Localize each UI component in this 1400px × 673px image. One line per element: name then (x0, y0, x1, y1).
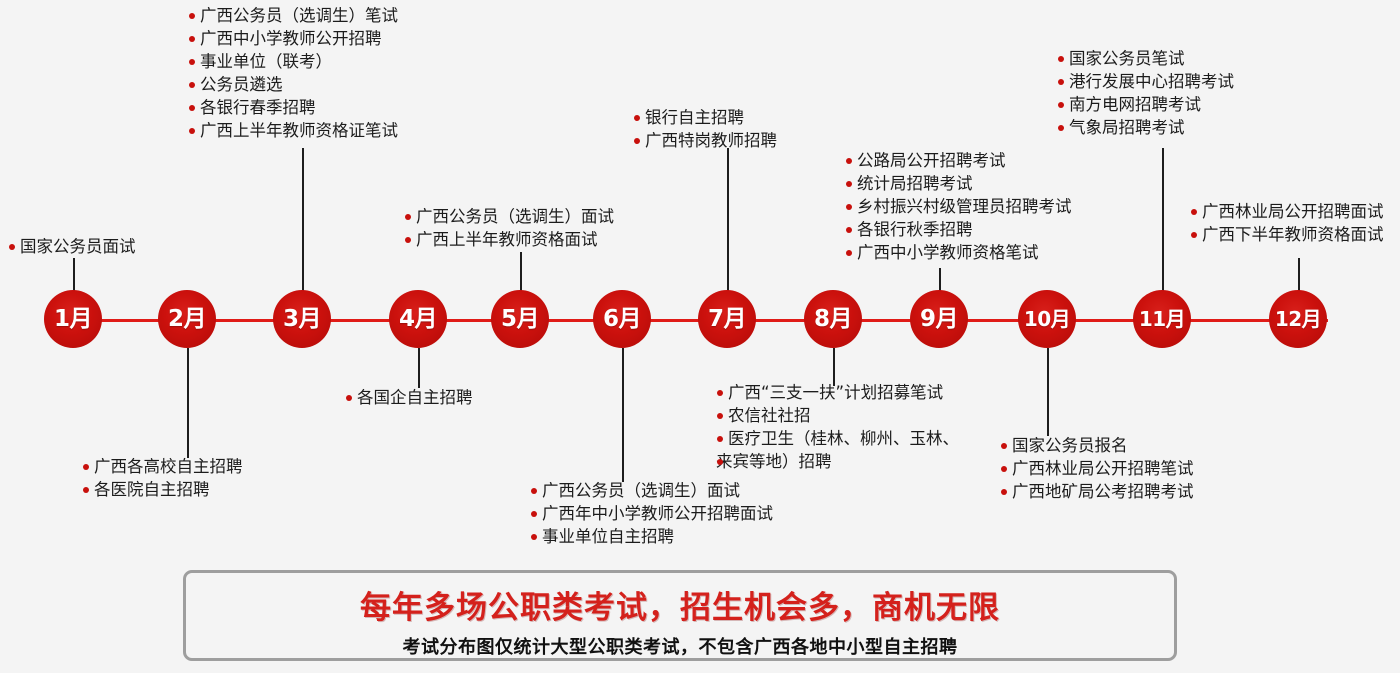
callout-item: 事业单位自主招聘 (530, 525, 773, 548)
callout-item: 南方电网招聘考试 (1057, 93, 1234, 116)
summary-banner: 每年多场公职类考试，招生机会多，商机无限 考试分布图仅统计大型公职类考试，不包含… (183, 570, 1177, 661)
month-node-7[interactable]: 7月 (698, 290, 756, 348)
callout-item: 广西林业局公开招聘面试 (1190, 200, 1384, 223)
callout-march: 广西公务员（选调生）笔试 广西中小学教师公开招聘 事业单位（联考） 公务员遴选 … (188, 4, 398, 142)
callout-item: 气象局招聘考试 (1057, 116, 1234, 139)
callout-item: 广西上半年教师资格面试 (404, 228, 614, 251)
callout-may: 广西公务员（选调生）面试 广西上半年教师资格面试 (404, 205, 614, 251)
callout-item: 各国企自主招聘 (345, 386, 473, 409)
callout-item: 广西各高校自主招聘 (82, 455, 243, 478)
callout-item: 广西公务员（选调生）面试 (404, 205, 614, 228)
callout-item: 农信社社招 (716, 404, 959, 427)
month-node-11[interactable]: 11月 (1133, 290, 1191, 348)
callout-item: 医疗卫生（桂林、柳州、玉林、 (716, 427, 959, 450)
stem-september (939, 268, 941, 292)
callout-september: 公路局公开招聘考试 统计局招聘考试 乡村振兴村级管理员招聘考试 各银行秋季招聘 … (845, 149, 1072, 264)
callout-june: 广西公务员（选调生）面试 广西年中小学教师公开招聘面试 事业单位自主招聘 (530, 479, 773, 548)
callout-item: 港行发展中心招聘考试 (1057, 70, 1234, 93)
callout-item: 各银行春季招聘 (188, 96, 398, 119)
stem-april (418, 348, 420, 388)
callout-item: 统计局招聘考试 (845, 172, 1072, 195)
callout-october: 国家公务员报名 广西林业局公开招聘笔试 广西地矿局公考招聘考试 (1000, 434, 1194, 503)
stem-november (1162, 148, 1164, 292)
month-node-9[interactable]: 9月 (910, 290, 968, 348)
stem-may (520, 252, 522, 292)
callout-item: 广西特岗教师招聘 (633, 129, 777, 152)
callout-item: 广西“三支一扶”计划招募笔试 (716, 381, 959, 404)
callout-item: 公路局公开招聘考试 (845, 149, 1072, 172)
callout-item: 公务员遴选 (188, 73, 398, 96)
callout-item: 银行自主招聘 (633, 106, 777, 129)
callout-item: 广西上半年教师资格证笔试 (188, 119, 398, 142)
stem-july (727, 148, 729, 292)
callout-april: 各国企自主招聘 (345, 386, 473, 409)
banner-subtitle: 考试分布图仅统计大型公职类考试，不包含广西各地中小型自主招聘 (186, 633, 1174, 659)
callout-item: 广西地矿局公考招聘考试 (1000, 480, 1194, 503)
banner-title: 每年多场公职类考试，招生机会多，商机无限 (186, 582, 1174, 627)
month-node-8[interactable]: 8月 (804, 290, 862, 348)
callout-item: 事业单位（联考） (188, 50, 398, 73)
callout-item: 广西中小学教师公开招聘 (188, 27, 398, 50)
stem-march (302, 148, 304, 292)
callout-august: 广西“三支一扶”计划招募笔试 农信社社招 医疗卫生（桂林、柳州、玉林、 来宾等地… (716, 381, 959, 473)
stem-december (1298, 258, 1300, 292)
stem-october (1047, 348, 1049, 436)
stem-february (187, 348, 189, 458)
callout-item: 广西下半年教师资格面试 (1190, 223, 1384, 246)
month-node-3[interactable]: 3月 (273, 290, 331, 348)
month-node-2[interactable]: 2月 (158, 290, 216, 348)
callout-item: 各银行秋季招聘 (845, 218, 1072, 241)
month-node-4[interactable]: 4月 (389, 290, 447, 348)
stem-january (73, 258, 75, 292)
month-node-1[interactable]: 1月 (44, 290, 102, 348)
month-node-6[interactable]: 6月 (593, 290, 651, 348)
callout-item: 广西年中小学教师公开招聘面试 (530, 502, 773, 525)
callout-december: 广西林业局公开招聘面试 广西下半年教师资格面试 (1190, 200, 1384, 246)
timeline-infographic: 1月 2月 3月 4月 5月 6月 7月 8月 9月 10月 11月 12月 国… (0, 0, 1400, 673)
callout-item: 广西公务员（选调生）笔试 (188, 4, 398, 27)
month-node-12[interactable]: 12月 (1269, 290, 1327, 348)
callout-january: 国家公务员面试 (8, 235, 136, 258)
callout-item: 国家公务员面试 (8, 235, 136, 258)
callout-item: 乡村振兴村级管理员招聘考试 (845, 195, 1072, 218)
callout-item: 广西公务员（选调生）面试 (530, 479, 773, 502)
callout-item: 广西林业局公开招聘笔试 (1000, 457, 1194, 480)
callout-item: 国家公务员笔试 (1057, 47, 1234, 70)
month-node-5[interactable]: 5月 (491, 290, 549, 348)
callout-item-continuation: 来宾等地）招聘 (716, 450, 959, 473)
callout-item: 广西中小学教师资格笔试 (845, 241, 1072, 264)
callout-item-continuation-text: 来宾等地）招聘 (716, 450, 959, 473)
callout-july: 银行自主招聘 广西特岗教师招聘 (633, 106, 777, 152)
stem-june (622, 348, 624, 482)
callout-item: 国家公务员报名 (1000, 434, 1194, 457)
callout-item: 各医院自主招聘 (82, 478, 243, 501)
callout-november: 国家公务员笔试 港行发展中心招聘考试 南方电网招聘考试 气象局招聘考试 (1057, 47, 1234, 139)
month-node-10[interactable]: 10月 (1018, 290, 1076, 348)
callout-february: 广西各高校自主招聘 各医院自主招聘 (82, 455, 243, 501)
